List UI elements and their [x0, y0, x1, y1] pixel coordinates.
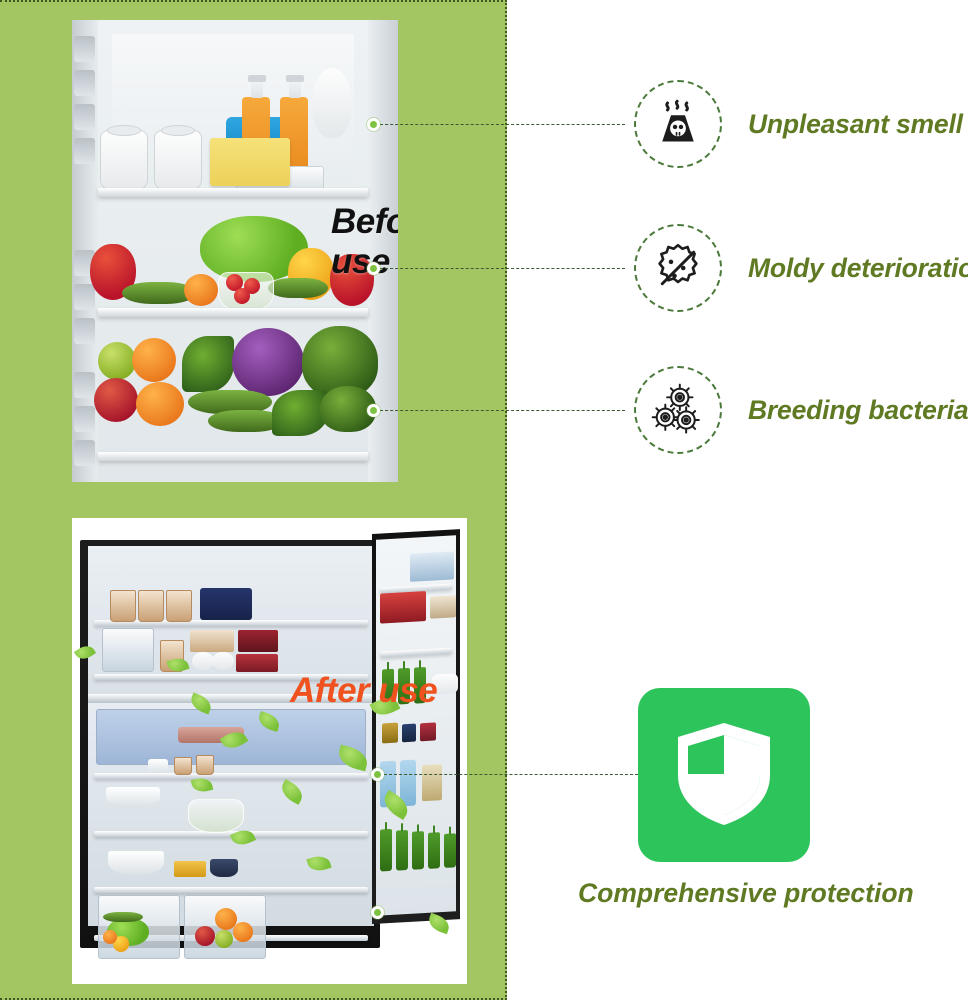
ice-cream-tub-2: [138, 590, 164, 622]
nectarine: [136, 382, 184, 426]
pickle-jar: [382, 723, 398, 744]
connector-breeding-bacteria: [380, 410, 625, 411]
corn-container: [174, 861, 206, 877]
feature-label-unpleasant-smell: Unpleasant smell: [748, 109, 963, 140]
feature-label-breeding-bacteria: Breeding bacteria: [748, 395, 968, 426]
soda-bottle-1: [380, 829, 392, 872]
node-moldy-deterioration: [367, 262, 380, 275]
feature-label-moldy-deterioration: Moldy deterioration: [748, 253, 968, 284]
comprehensive-protection-caption: Comprehensive protection: [578, 878, 908, 909]
soda-bottle-4: [428, 832, 440, 869]
feature-row-breeding-bacteria[interactable]: Breeding bacteria: [634, 366, 968, 454]
after-use-caption: After use: [290, 671, 437, 711]
cheese-block: [210, 138, 290, 186]
jam-jar: [420, 722, 436, 741]
orange-2: [132, 338, 176, 382]
connector-comprehensive-protection: [384, 774, 638, 775]
before-use-caption: Before use: [331, 202, 398, 282]
small-dessert-3: [196, 755, 214, 775]
door-shelves-panel: [376, 535, 456, 915]
node-bottom-accent: [371, 906, 384, 919]
freezer-drawer-left: [102, 628, 154, 672]
bacteria-icon: [634, 366, 722, 454]
connector-unpleasant-smell: [380, 124, 625, 125]
fridge-open-door: [372, 529, 460, 924]
milk-jar-2: [154, 130, 202, 190]
sauce-jar: [402, 724, 416, 743]
eggs-cluster: [312, 68, 352, 138]
mold-germ-icon: [634, 224, 722, 312]
shield-protection-icon: [670, 717, 778, 834]
comprehensive-protection-badge[interactable]: [638, 688, 810, 862]
fridge-shelf-3: [98, 452, 368, 461]
food-pack-1: [190, 630, 234, 652]
fridge-shelf-1: [98, 188, 368, 197]
infographic-root: Before use: [0, 0, 968, 1000]
orange-fruit: [184, 274, 218, 306]
green-apple: [98, 342, 136, 380]
after-use-photo: After use: [72, 518, 467, 984]
clean-fridge-illustration: [72, 518, 467, 984]
soda-bottle-3: [412, 831, 424, 870]
soda-bottle-5: [444, 833, 456, 868]
smell-skull-icon: [634, 80, 722, 168]
soda-bottle-2: [396, 830, 408, 871]
feature-row-moldy-deterioration[interactable]: Moldy deterioration: [634, 224, 968, 312]
door-snack-pack: [430, 595, 456, 618]
node-comprehensive-protection: [371, 768, 384, 781]
ice-cream-tub-3: [166, 590, 192, 622]
fridge-left-wall: [72, 20, 98, 482]
vegetable-crisper-left: [98, 895, 180, 959]
blue-storage-box: [200, 588, 252, 620]
before-use-photo: Before use: [72, 20, 398, 482]
cake-plate: [108, 851, 164, 875]
fridge-shelf-2: [98, 308, 368, 317]
small-dessert-1: [148, 759, 168, 773]
basil-bunch: [182, 336, 234, 392]
node-unpleasant-smell: [367, 118, 380, 131]
ice-cream-tub-1: [110, 590, 136, 622]
cucumber-2: [268, 278, 328, 298]
food-pack-3: [236, 654, 278, 672]
purple-cabbage: [232, 328, 304, 396]
food-pack-2: [238, 630, 278, 652]
red-apple: [94, 378, 138, 422]
salad-bowl: [188, 799, 244, 833]
milk-jar-1: [100, 130, 148, 190]
node-breeding-bacteria: [367, 404, 380, 417]
door-frozen-pack: [410, 551, 454, 581]
door-pizza-pack: [380, 591, 426, 624]
mayo-jar: [422, 764, 442, 801]
fruit-tart-plate: [106, 787, 160, 807]
connector-moldy-deterioration: [380, 268, 625, 269]
berry-bowl: [210, 859, 238, 877]
feature-row-unpleasant-smell[interactable]: Unpleasant smell: [634, 80, 963, 168]
fruit-crisper-right: [184, 895, 266, 959]
small-dessert-2: [174, 757, 192, 775]
